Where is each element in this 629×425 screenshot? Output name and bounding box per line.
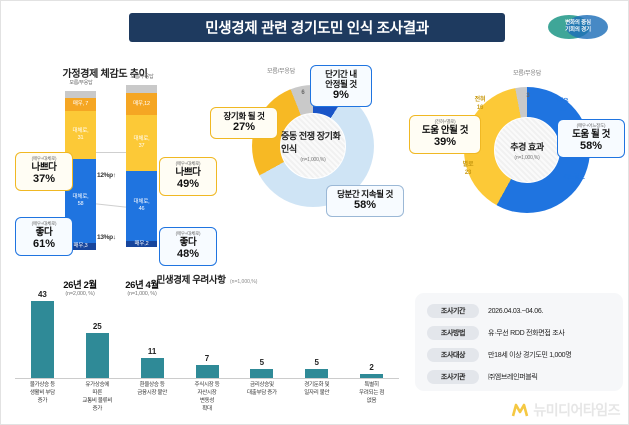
callout-war-short-value: 9% <box>313 89 369 102</box>
watermark-text: 뉴미디어타임즈 <box>533 400 620 420</box>
watermark: 뉴미디어타임즈 <box>511 400 620 420</box>
concern-column-value: 2 <box>369 363 373 372</box>
budget-nodata-value: 3 <box>522 93 534 101</box>
household-delta-positive: 13%p↓ <box>97 234 116 241</box>
survey-info-value-period: 2026.04.03.~04.06. <box>488 308 543 315</box>
household-delta-negative: 12%p↑ <box>97 172 116 179</box>
gyeonggi-logo-line2: 기회의 경기 <box>565 27 591 34</box>
concerns-plot-area: 4325117552 <box>15 288 399 378</box>
concern-column: 11 <box>125 288 179 378</box>
concern-column-bar <box>196 365 219 378</box>
callout-bad-feb-value: 37% <box>18 173 70 186</box>
concerns-chart-title: 민생경제 우려사항 <box>157 275 226 286</box>
concern-column-bar <box>86 333 109 378</box>
survey-info-key-period: 조사기간 <box>427 304 479 318</box>
household-nodata-label-apr: 모름/무응답 <box>103 73 181 80</box>
callout-budget-nohelp: (전혀+별로) 도움 안될 것 39% <box>409 115 481 154</box>
survey-info-row-agency: 조사기관 ㈜엠브레인퍼블릭 <box>427 369 538 385</box>
survey-info-key-agency: 조사기관 <box>427 370 479 384</box>
concern-column-bar <box>31 301 54 378</box>
gyeonggi-logo-text: 변화의 중심 기회의 경기 <box>542 14 614 40</box>
page-title: 민생경제 관련 경기도민 인식 조사결과 <box>129 13 505 42</box>
concerns-chart-header: 민생경제 우려사항 (n=1,000,%) <box>7 270 407 288</box>
gyeonggi-logo: 변화의 중심 기회의 경기 <box>542 14 614 40</box>
bar-seg-veryneg-apr: 매우,12 <box>126 93 157 115</box>
bar-seg-veryneg-feb: 매우, 7 <box>65 98 96 111</box>
gyeonggi-logo-line1: 변화의 중심 <box>565 20 591 27</box>
concern-column-value: 11 <box>148 347 156 356</box>
callout-good-feb-value: 61% <box>18 238 70 251</box>
callout-bad-feb: (매우+대체로) 나쁘다 37% <box>15 152 73 191</box>
concern-column: 25 <box>70 288 124 378</box>
concern-column-value: 43 <box>38 290 47 299</box>
concern-column: 2 <box>345 288 399 378</box>
budget-nodata-label: 모름/무응답 <box>504 71 550 79</box>
callout-good-feb: (매우+대체로) 좋다 61% <box>15 217 73 256</box>
bar-connector-bottom <box>96 203 126 207</box>
callout-budget-nohelp-value: 39% <box>412 136 478 149</box>
budget-slice-very: 매우20 <box>552 99 574 114</box>
concern-column-value: 5 <box>260 358 264 367</box>
concerns-chart-subtitle: (n=1,000,%) <box>230 279 257 285</box>
concern-column-label: 경기둔화 및일자리 불안 <box>289 382 345 398</box>
survey-info-key-target: 조사대상 <box>427 348 479 362</box>
budget-slice-notmuch: 별로23 <box>457 162 479 177</box>
bar-seg-nodata-apr <box>126 85 157 93</box>
concern-column-bar <box>360 374 383 378</box>
concern-column-label: 환율상승 등금융시장 불안 <box>124 382 180 398</box>
survey-info-row-method: 조사방법 유·무선 RDD 전화면접 조사 <box>427 325 565 341</box>
callout-war-long: 장기화 될 것 27% <box>210 107 278 139</box>
concerns-axis-line <box>15 378 399 379</box>
panel-economic-concerns: 민생경제 우려사항 (n=1,000,%) 4325117552 물가상승 등생… <box>7 266 407 421</box>
concern-column: 5 <box>290 288 344 378</box>
bar-seg-verypos-apr: 매우,2 <box>126 241 157 247</box>
concern-column-label: 유가상승에따른교통비 물류비증가 <box>69 382 125 414</box>
concern-column-value: 7 <box>205 354 209 363</box>
callout-budget-help: (매우+어느정도) 도움 될 것 58% <box>557 119 625 158</box>
infographic-page: 민생경제 관련 경기도민 인식 조사결과 변화의 중심 기회의 경기 가정경제 … <box>0 0 629 425</box>
callout-good-feb-label: 좋다 <box>18 227 70 238</box>
survey-info-value-agency: ㈜엠브레인퍼블릭 <box>488 372 538 382</box>
concern-column: 5 <box>235 288 289 378</box>
survey-info-row-period: 조사기간 2026.04.03.~04.06. <box>427 303 543 319</box>
household-bar-apr: 매우,12 대체로,37 대체로,46 매우,2 <box>126 85 157 247</box>
war-donut-center: 중동 전쟁 장기화 인식 (n=1,000,%) <box>280 113 346 179</box>
callout-budget-help-value: 58% <box>560 140 622 153</box>
callout-war-short-label1: 단기간 내 <box>313 69 369 79</box>
concern-column-label: 물가상승 등생활비 부담증가 <box>14 382 70 406</box>
callout-war-long-label: 장기화 될 것 <box>213 111 275 121</box>
callout-bad-feb-label: 나쁘다 <box>18 162 70 173</box>
budget-center-title: 추경 효과 <box>510 140 544 153</box>
callout-war-short-label2: 안정될 것 <box>313 79 369 89</box>
callout-war-continue-value: 58% <box>329 199 401 212</box>
concern-column-label: 특별히우려되는 점없음 <box>344 382 400 406</box>
concern-column: 7 <box>180 288 234 378</box>
callout-budget-help-label: 도움 될 것 <box>560 129 622 140</box>
household-nodata-label-feb: 모름/무응답 <box>42 79 120 86</box>
newmediatimes-logo-icon <box>511 402 529 418</box>
page-title-text: 민생경제 관련 경기도민 인식 조사결과 <box>205 17 429 38</box>
callout-war-continue-label: 당분간 지속될 것 <box>329 189 401 199</box>
panel-household-economy: 가정경제 체감도 추이 모름/무응답 모름/무응답 매우, 7 대체로,31 대… <box>7 57 203 262</box>
concern-column-label: 주식시장 등자산시장변동성확대 <box>179 382 235 414</box>
callout-war-long-value: 27% <box>213 121 275 134</box>
survey-info-card: 조사기간 2026.04.03.~04.06. 조사방법 유·무선 RDD 전화… <box>415 293 623 391</box>
budget-slice-notatall: 전혀16 <box>469 97 491 112</box>
bar-seg-somneg-apr: 대체로,37 <box>126 115 157 171</box>
callout-budget-nohelp-label: 도움 안될 것 <box>412 125 478 136</box>
budget-center-n: (n=1,000,%) <box>514 155 539 161</box>
concern-column-bar <box>250 369 273 378</box>
survey-info-row-target: 조사대상 만18세 이상 경기도민 1,000명 <box>427 347 571 363</box>
budget-slice-somewhat: 어느정도38 <box>559 175 589 190</box>
panel-budget-effect: 추경 효과 (n=1,000,%) 모름/무응답 3 매우20 어느정도38 별… <box>409 57 624 262</box>
survey-info-value-target: 만18세 이상 경기도민 1,000명 <box>488 350 571 360</box>
concern-column-value: 5 <box>314 358 318 367</box>
bar-seg-nodata-feb <box>65 91 96 98</box>
bar-seg-sompos-apr: 대체로,46 <box>126 171 157 241</box>
concern-column-bar <box>305 369 328 378</box>
concern-column-value: 25 <box>93 322 102 331</box>
war-nodata-value: 6 <box>296 90 310 98</box>
survey-info-key-method: 조사방법 <box>427 326 479 340</box>
bar-connector-top <box>96 152 126 153</box>
concern-column: 43 <box>15 288 69 378</box>
war-center-n: (n=1,000,%) <box>300 157 325 163</box>
callout-war-short: 단기간 내 안정될 것 9% <box>310 65 372 107</box>
budget-donut-center: 추경 효과 (n=1,000,%) <box>494 117 560 183</box>
concern-column-label: 금리상승및대출부담 증가 <box>234 382 290 398</box>
war-center-title: 중동 전쟁 장기화 인식 <box>281 129 345 155</box>
callout-war-continue: 당분간 지속될 것 58% <box>326 185 404 217</box>
survey-info-value-method: 유·무선 RDD 전화면접 조사 <box>488 328 565 338</box>
concern-column-bar <box>141 358 164 378</box>
war-nodata-label: 모름/무응답 <box>258 69 304 77</box>
panel-war-perception: 중동 전쟁 장기화 인식 (n=1,000,%) 모름/무응답 6 단기간 내 … <box>206 57 406 262</box>
